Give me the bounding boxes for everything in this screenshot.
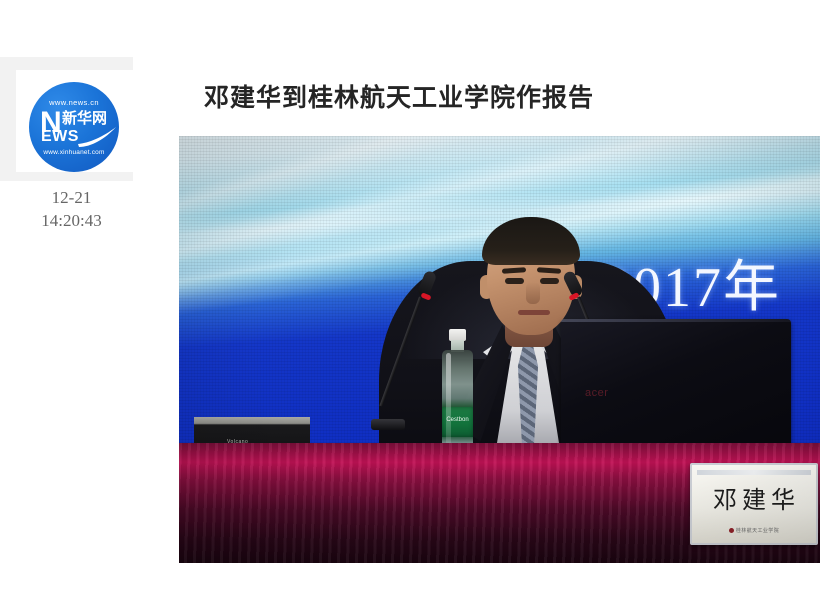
laptop: acer (561, 319, 791, 453)
logo-chinese-name: 新华网 (62, 110, 107, 126)
bottle-highlight (446, 353, 451, 445)
logo-url-bottom: www.xinhuanet.com (29, 149, 119, 156)
eye-left (505, 278, 524, 284)
mouth (518, 310, 550, 315)
timestamp: 12-21 14:20:43 (0, 186, 143, 232)
logo-letters-ews: EWS (41, 129, 79, 145)
timestamp-date: 12-21 (0, 186, 143, 209)
nose (526, 282, 540, 304)
logo-swoosh-icon (77, 126, 117, 148)
name-plate-name: 邓建华 (692, 487, 816, 513)
org-text: 桂林航天工业学院 (736, 528, 779, 534)
article-photo: 2017年 Volcano (179, 136, 820, 563)
org-emblem-icon (729, 528, 734, 533)
name-plate: 邓建华 桂林航天工业学院 (690, 463, 818, 545)
meta-column: www.news.cn N EWS 新华网 www.xinhuanet.com … (0, 0, 176, 598)
eye-right (540, 278, 559, 284)
laptop-brand-label: acer (585, 387, 608, 399)
mic-indicator-left (420, 292, 431, 300)
water-bottle: Cestbon (439, 329, 475, 451)
mic-base-left (371, 419, 405, 430)
timestamp-time: 14:20:43 (0, 209, 143, 232)
xinhua-news-logo-icon[interactable]: www.news.cn N EWS 新华网 www.xinhuanet.com (29, 82, 119, 172)
hair (482, 217, 580, 265)
microphone-left (357, 271, 447, 451)
name-plate-org: 桂林航天工业学院 (692, 527, 816, 534)
page-title: 邓建华到桂林航天工业学院作报告 (204, 81, 594, 115)
mic-stem-left (379, 297, 421, 407)
